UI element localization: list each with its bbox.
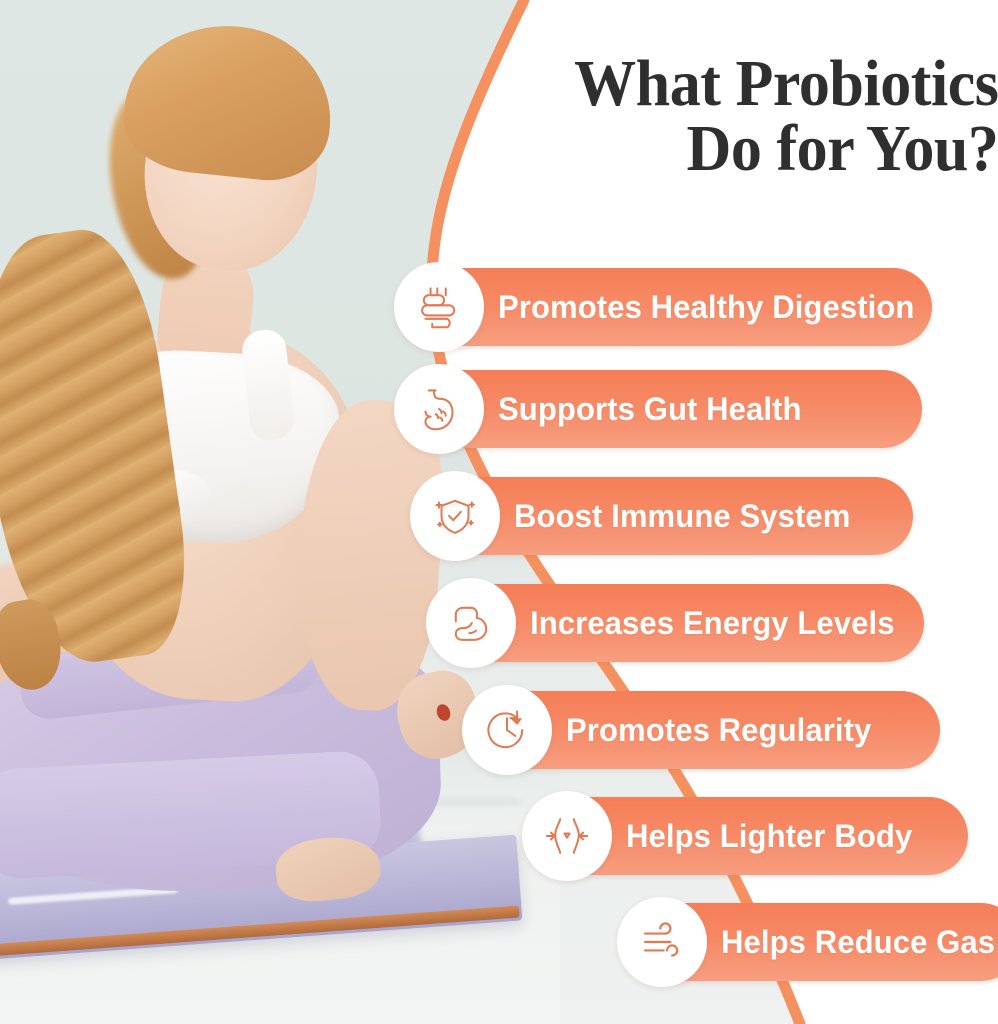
benefit-label: Promotes Healthy Digestion: [498, 289, 914, 326]
benefit-pill-promotes-healthy-digestion[interactable]: Promotes Healthy Digestion: [402, 268, 932, 346]
benefit-label: Helps Reduce Gas: [721, 924, 995, 961]
clock-arrow-icon: [462, 685, 552, 775]
benefit-pill-helps-lighter-body[interactable]: Helps Lighter Body: [530, 797, 968, 875]
wind-lines-icon: [617, 897, 707, 987]
slim-waist-icon: [522, 791, 612, 881]
benefit-pill-promotes-regularity[interactable]: Promotes Regularity: [470, 691, 940, 769]
benefit-label: Boost Immune System: [514, 498, 850, 535]
benefit-label: Increases Energy Levels: [530, 605, 895, 642]
page-title-line-2: Do for You?: [502, 117, 998, 182]
shield-check-icon: [410, 471, 500, 561]
stomach-icon: [394, 364, 484, 454]
page-title: What Probiotics Do for You?: [502, 52, 998, 181]
benefit-label: Supports Gut Health: [498, 391, 802, 428]
benefit-pill-helps-reduce-gas[interactable]: Helps Reduce Gas: [625, 903, 998, 981]
benefit-pill-supports-gut-health[interactable]: Supports Gut Health: [402, 370, 922, 448]
intestine-icon: [394, 262, 484, 352]
flexed-bicep-icon: [426, 578, 516, 668]
page-title-line-1: What Probiotics: [574, 47, 998, 120]
benefit-label: Promotes Regularity: [566, 712, 871, 749]
benefit-label: Helps Lighter Body: [626, 818, 912, 855]
benefit-pill-boost-immune-system[interactable]: Boost Immune System: [418, 477, 913, 555]
benefit-pill-increases-energy-levels[interactable]: Increases Energy Levels: [434, 584, 924, 662]
infographic-canvas: What Probiotics Do for You? Promotes Hea…: [0, 0, 998, 1024]
